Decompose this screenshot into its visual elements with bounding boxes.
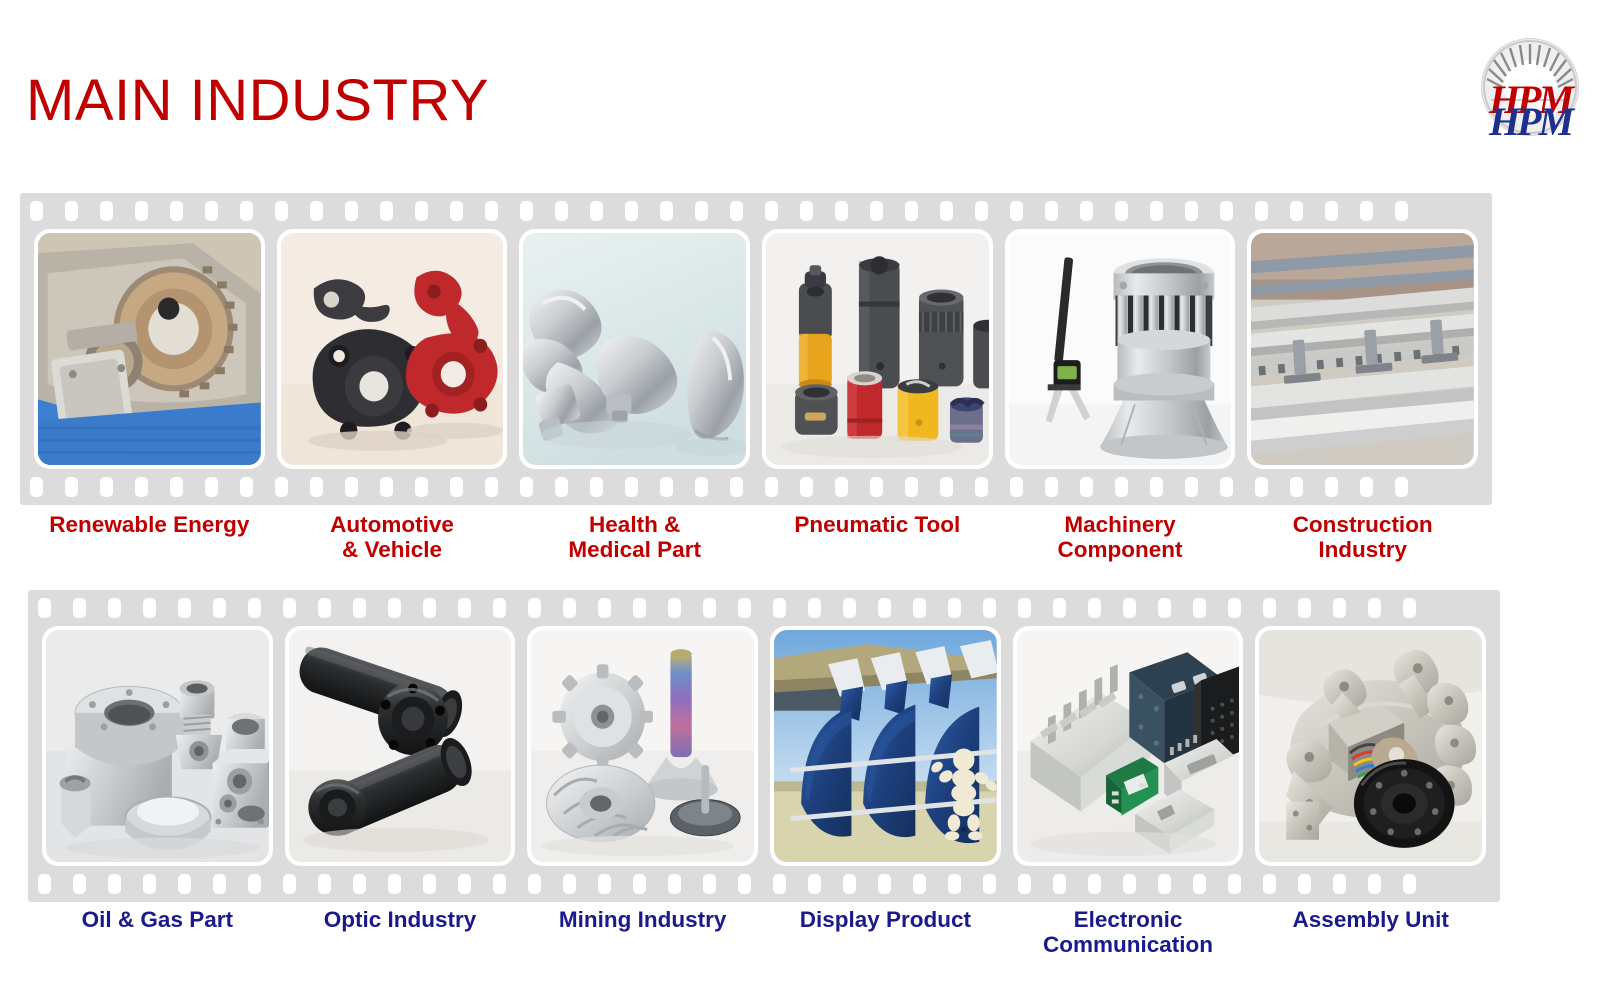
film-perforation <box>1220 477 1233 497</box>
film-perforation <box>1403 874 1416 894</box>
film-perforation <box>528 598 541 618</box>
label-assembly-unit: Assembly Unit <box>1255 903 1486 957</box>
film-perforation <box>1080 477 1093 497</box>
film-perforation <box>310 201 323 221</box>
film-perforation <box>520 201 533 221</box>
label-oil-gas-part: Oil & Gas Part <box>42 903 273 957</box>
film-perforation <box>843 598 856 618</box>
film-perforation <box>1088 598 1101 618</box>
film-perforation <box>738 598 751 618</box>
film-perforation <box>458 874 471 894</box>
film-perforation <box>170 201 183 221</box>
photo-frame-assembly-unit[interactable] <box>1255 626 1486 866</box>
film-perforation <box>65 201 78 221</box>
film-perforation <box>835 201 848 221</box>
film-perforation <box>555 477 568 497</box>
film-perforation <box>1150 477 1163 497</box>
film-perforation <box>248 874 261 894</box>
film-perforation <box>520 477 533 497</box>
assembly-unit-bracket-photo <box>1259 630 1482 862</box>
film-perforation <box>528 874 541 894</box>
oil-gas-machined-blocks-photo <box>46 630 269 862</box>
film-perforation <box>1333 874 1346 894</box>
label-line-1: Health & <box>519 512 750 537</box>
film-perforation <box>1150 201 1163 221</box>
mining-cutter-parts-photo <box>531 630 754 862</box>
film-perforation <box>563 598 576 618</box>
film-perforation <box>1333 598 1346 618</box>
film-perforation <box>1298 598 1311 618</box>
film-perforation <box>380 477 393 497</box>
photo-frame-optic[interactable] <box>285 626 516 866</box>
photo-frame-automotive[interactable] <box>277 229 508 469</box>
film-perforation <box>1220 201 1233 221</box>
film-perforation <box>948 598 961 618</box>
film-perforation <box>143 874 156 894</box>
film-perforation <box>353 598 366 618</box>
film-perforation <box>1158 598 1171 618</box>
photo-frame-health-medical[interactable] <box>519 229 750 469</box>
machinery-housing-caliper-photo <box>1009 233 1232 465</box>
film-perforation <box>415 477 428 497</box>
film-perforation <box>590 477 603 497</box>
film-perforation <box>1228 874 1241 894</box>
film-perforation <box>773 874 786 894</box>
label-line-2: Component <box>1005 537 1236 562</box>
label-health-medical-part: Health & Medical Part <box>519 508 750 562</box>
film-perforation <box>843 874 856 894</box>
label-construction-industry: Construction Industry <box>1247 508 1478 562</box>
film-perforation <box>283 598 296 618</box>
film-perforation <box>485 201 498 221</box>
labels-row-2: Oil & Gas Part Optic Industry Mining Ind… <box>28 903 1500 957</box>
film-perforation <box>1193 598 1206 618</box>
film-perforation <box>1010 477 1023 497</box>
film-perforation <box>100 477 113 497</box>
film-perforation <box>800 477 813 497</box>
film-perforation <box>983 874 996 894</box>
film-perforation <box>940 477 953 497</box>
film-perforation <box>1325 201 1338 221</box>
film-perforation <box>808 874 821 894</box>
film-perforation <box>38 874 51 894</box>
perforation-row-top <box>28 598 1500 618</box>
film-perforation <box>240 477 253 497</box>
film-perforation <box>983 598 996 618</box>
film-perforation <box>170 477 183 497</box>
film-perforation <box>248 598 261 618</box>
film-perforation <box>1045 477 1058 497</box>
perforation-row-bottom <box>20 477 1492 497</box>
film-perforation <box>318 598 331 618</box>
electronic-enclosures-photo <box>1017 630 1240 862</box>
film-perforation <box>240 201 253 221</box>
film-perforation <box>1263 874 1276 894</box>
film-perforation <box>353 874 366 894</box>
film-perforation <box>1123 874 1136 894</box>
film-perforation <box>1403 598 1416 618</box>
page-title: MAIN INDUSTRY <box>26 72 489 130</box>
film-perforation <box>1368 598 1381 618</box>
film-perforation <box>1395 201 1408 221</box>
film-perforation <box>1368 874 1381 894</box>
film-perforation <box>633 874 646 894</box>
film-perforation <box>108 598 121 618</box>
film-perforation <box>590 201 603 221</box>
label-line-1: Automotive <box>277 512 508 537</box>
film-perforation <box>205 201 218 221</box>
film-perforation <box>345 477 358 497</box>
label-automotive-vehicle: Automotive & Vehicle <box>277 508 508 562</box>
film-perforation <box>423 874 436 894</box>
film-perforation <box>30 477 43 497</box>
film-perforation <box>415 201 428 221</box>
perforation-row-top <box>20 201 1492 221</box>
film-perforation <box>1298 874 1311 894</box>
film-perforation <box>800 201 813 221</box>
pneumatic-tool-parts-photo <box>766 233 989 465</box>
film-perforation <box>633 598 646 618</box>
hpm-logo: HPM HPM <box>1469 36 1591 148</box>
photo-frame-pneumatic-tool[interactable] <box>762 229 993 469</box>
film-perforation <box>1290 201 1303 221</box>
film-perforation <box>388 874 401 894</box>
film-perforation <box>773 598 786 618</box>
photo-frame-mining[interactable] <box>527 626 758 866</box>
film-perforation <box>1193 874 1206 894</box>
film-perforation <box>1018 874 1031 894</box>
film-perforation <box>878 598 891 618</box>
film-perforation <box>73 874 86 894</box>
film-perforation <box>765 477 778 497</box>
film-perforation <box>1010 201 1023 221</box>
film-perforation <box>1045 201 1058 221</box>
film-perforation <box>108 874 121 894</box>
label-line-1: Machinery <box>1005 512 1236 537</box>
film-perforation <box>975 201 988 221</box>
film-perforation <box>493 874 506 894</box>
label-display-product: Display Product <box>770 903 1001 957</box>
film-perforation <box>695 201 708 221</box>
labels-row-1: Renewable Energy Automotive & Vehicle He… <box>20 508 1492 562</box>
label-line-2: Industry <box>1247 537 1478 562</box>
film-perforation <box>318 874 331 894</box>
film-perforation <box>1080 201 1093 221</box>
film-perforation <box>563 874 576 894</box>
film-perforation <box>275 477 288 497</box>
film-perforation <box>870 477 883 497</box>
film-perforation <box>283 874 296 894</box>
film-perforation <box>625 477 638 497</box>
logo-text-bottom: HPM <box>1469 102 1591 142</box>
film-perforation <box>1228 598 1241 618</box>
film-perforation <box>1255 477 1268 497</box>
display-blue-panels-photo <box>774 630 997 862</box>
film-perforation <box>703 598 716 618</box>
film-perforation <box>870 201 883 221</box>
film-perforation <box>940 201 953 221</box>
film-perforation <box>730 201 743 221</box>
film-perforation <box>730 477 743 497</box>
film-perforation <box>948 874 961 894</box>
film-perforation <box>450 477 463 497</box>
film-perforation <box>1255 201 1268 221</box>
film-perforation <box>178 874 191 894</box>
film-perforation <box>380 201 393 221</box>
film-perforation <box>213 874 226 894</box>
film-perforation <box>213 598 226 618</box>
film-perforation <box>38 598 51 618</box>
film-perforation <box>905 477 918 497</box>
label-optic-industry: Optic Industry <box>285 903 516 957</box>
label-line-1: Electronic <box>1013 907 1244 932</box>
label-renewable-energy: Renewable Energy <box>34 508 265 562</box>
film-perforation <box>458 598 471 618</box>
photo-frame-oil-gas[interactable] <box>42 626 273 866</box>
film-perforation <box>135 201 148 221</box>
film-perforation <box>178 598 191 618</box>
photo-frames-row-1 <box>20 229 1492 469</box>
film-perforation <box>100 201 113 221</box>
film-perforation <box>1395 477 1408 497</box>
film-perforation <box>493 598 506 618</box>
label-line-2: Medical Part <box>519 537 750 562</box>
film-perforation <box>1360 201 1373 221</box>
film-perforation <box>1360 477 1373 497</box>
film-perforation <box>738 874 751 894</box>
film-perforation <box>703 874 716 894</box>
film-perforation <box>1263 598 1276 618</box>
label-electronic-communication: Electronic Communication <box>1013 903 1244 957</box>
label-pneumatic-tool: Pneumatic Tool <box>762 508 993 562</box>
film-perforation <box>485 477 498 497</box>
label-machinery-component: Machinery Component <box>1005 508 1236 562</box>
label-line-2: Communication <box>1013 932 1244 957</box>
film-perforation <box>30 201 43 221</box>
filmstrip-row-2 <box>28 590 1500 902</box>
film-perforation <box>1053 874 1066 894</box>
film-perforation <box>1018 598 1031 618</box>
photo-frames-row-2 <box>28 626 1500 866</box>
film-perforation <box>625 201 638 221</box>
film-perforation <box>913 874 926 894</box>
photo-frame-renewable-energy[interactable] <box>34 229 265 469</box>
film-perforation <box>1325 477 1338 497</box>
film-perforation <box>1123 598 1136 618</box>
film-perforation <box>423 598 436 618</box>
photo-frame-machinery-component[interactable] <box>1005 229 1236 469</box>
film-perforation <box>695 477 708 497</box>
film-perforation <box>668 874 681 894</box>
film-perforation <box>205 477 218 497</box>
film-perforation <box>1053 598 1066 618</box>
film-perforation <box>450 201 463 221</box>
perforation-row-bottom <box>28 874 1500 894</box>
film-perforation <box>143 598 156 618</box>
photo-frame-construction[interactable] <box>1247 229 1478 469</box>
film-perforation <box>310 477 323 497</box>
film-perforation <box>765 201 778 221</box>
film-perforation <box>135 477 148 497</box>
film-perforation <box>660 201 673 221</box>
photo-frame-display-product[interactable] <box>770 626 1001 866</box>
film-perforation <box>598 874 611 894</box>
film-perforation <box>1115 477 1128 497</box>
film-perforation <box>73 598 86 618</box>
film-perforation <box>1185 477 1198 497</box>
film-perforation <box>1185 201 1198 221</box>
renewable-energy-gearbox-photo <box>38 233 261 465</box>
film-perforation <box>1158 874 1171 894</box>
medical-impeller-photo <box>523 233 746 465</box>
automotive-castings-photo <box>281 233 504 465</box>
label-mining-industry: Mining Industry <box>527 903 758 957</box>
film-perforation <box>275 201 288 221</box>
film-perforation <box>1115 201 1128 221</box>
film-perforation <box>1088 874 1101 894</box>
film-perforation <box>65 477 78 497</box>
label-line-2: & Vehicle <box>277 537 508 562</box>
label-line-1: Construction <box>1247 512 1478 537</box>
construction-rails-photo <box>1251 233 1474 465</box>
film-perforation <box>808 598 821 618</box>
film-perforation <box>388 598 401 618</box>
film-perforation <box>878 874 891 894</box>
film-perforation <box>905 201 918 221</box>
film-perforation <box>555 201 568 221</box>
film-perforation <box>1290 477 1303 497</box>
film-perforation <box>668 598 681 618</box>
film-perforation <box>598 598 611 618</box>
film-perforation <box>660 477 673 497</box>
filmstrip-row-1 <box>20 193 1492 505</box>
film-perforation <box>975 477 988 497</box>
film-perforation <box>835 477 848 497</box>
film-perforation <box>913 598 926 618</box>
photo-frame-electronic-communication[interactable] <box>1013 626 1244 866</box>
film-perforation <box>345 201 358 221</box>
optic-black-tubes-photo <box>289 630 512 862</box>
